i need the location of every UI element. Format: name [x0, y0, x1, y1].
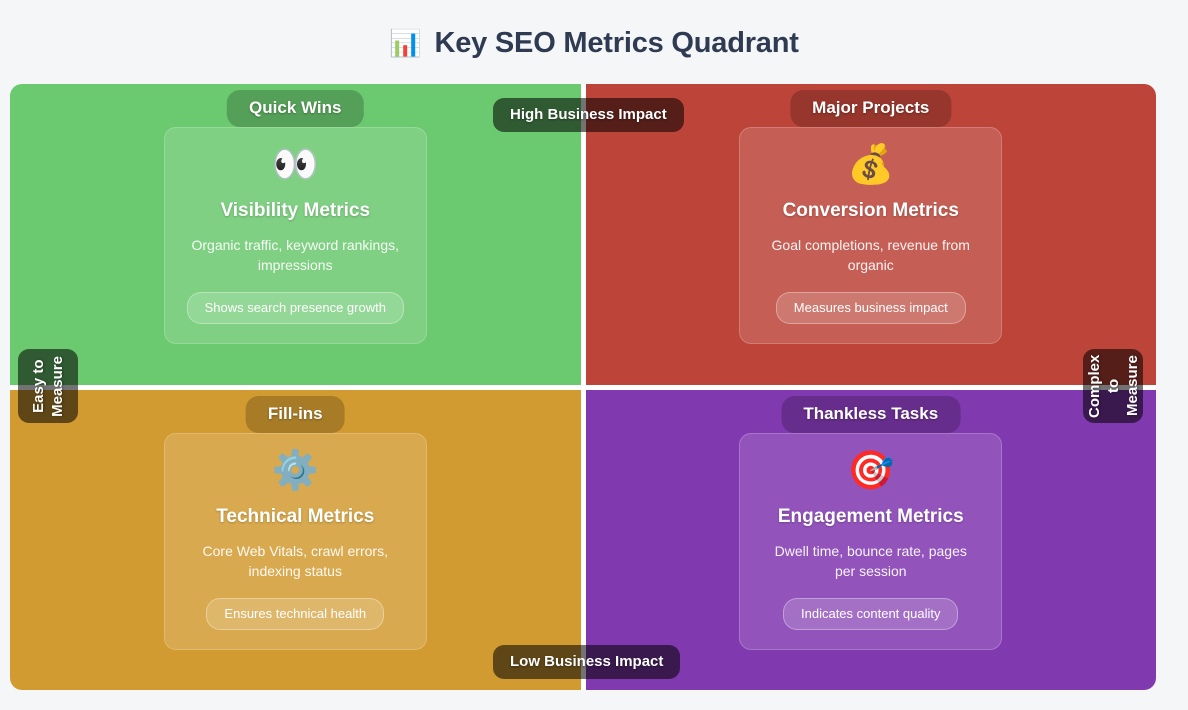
- axis-label-right-text: Complex to Measure: [1085, 349, 1142, 423]
- metric-description: Goal completions, revenue from organic: [763, 235, 978, 275]
- quadrant-fill-ins[interactable]: Fill-ins ⚙️ Technical Metrics Core Web V…: [10, 390, 581, 691]
- metric-card-visibility[interactable]: 👀 Visibility Metrics Organic traffic, ke…: [164, 127, 427, 344]
- metric-badge: Indicates content quality: [783, 598, 958, 630]
- metric-name: Conversion Metrics: [783, 200, 959, 222]
- quadrant-grid: Quick Wins 👀 Visibility Metrics Organic …: [10, 84, 1156, 690]
- metric-card-conversion[interactable]: 💰 Conversion Metrics Goal completions, r…: [739, 127, 1002, 344]
- metric-description: Dwell time, bounce rate, pages per sessi…: [763, 541, 978, 581]
- metric-description: Organic traffic, keyword rankings, impre…: [188, 235, 403, 275]
- metric-name: Engagement Metrics: [778, 506, 964, 528]
- quadrant-heading: Major Projects: [790, 90, 951, 127]
- axis-label-left: Easy to Measure: [18, 349, 78, 423]
- axis-label-left-text: Easy to Measure: [29, 356, 67, 417]
- quadrant-quick-wins[interactable]: Quick Wins 👀 Visibility Metrics Organic …: [10, 84, 581, 385]
- page-title: 📊 Key SEO Metrics Quadrant: [389, 27, 798, 60]
- axis-label-right: Complex to Measure: [1083, 349, 1143, 423]
- axis-label-top: High Business Impact: [493, 98, 684, 132]
- gear-icon: ⚙️: [272, 452, 319, 490]
- axis-label-bottom: Low Business Impact: [493, 645, 680, 679]
- metric-badge: Measures business impact: [776, 292, 966, 324]
- money-bag-icon: 💰: [847, 146, 894, 184]
- quadrant-heading: Quick Wins: [227, 90, 363, 127]
- bar-chart-icon: 📊: [389, 30, 421, 56]
- page-header: 📊 Key SEO Metrics Quadrant: [0, 0, 1188, 86]
- metric-card-engagement[interactable]: 🎯 Engagement Metrics Dwell time, bounce …: [739, 433, 1002, 650]
- metric-card-technical[interactable]: ⚙️ Technical Metrics Core Web Vitals, cr…: [164, 433, 427, 650]
- dart-target-icon: 🎯: [847, 452, 894, 490]
- metric-badge: Shows search presence growth: [187, 292, 404, 324]
- page-title-text: Key SEO Metrics Quadrant: [434, 27, 798, 60]
- metric-name: Visibility Metrics: [220, 200, 370, 222]
- eyes-icon: 👀: [272, 146, 319, 184]
- metric-description: Core Web Vitals, crawl errors, indexing …: [188, 541, 403, 581]
- quadrant-chart: Quick Wins 👀 Visibility Metrics Organic …: [10, 84, 1156, 690]
- quadrant-heading: Fill-ins: [246, 396, 345, 433]
- quadrant-heading: Thankless Tasks: [781, 396, 960, 433]
- metric-name: Technical Metrics: [216, 506, 374, 528]
- metric-badge: Ensures technical health: [206, 598, 384, 630]
